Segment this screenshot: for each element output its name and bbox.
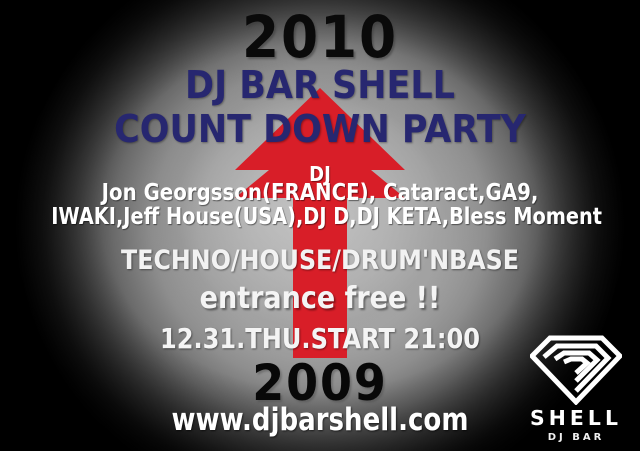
headline-event: COUNT DOWN PARTY [26,110,615,148]
date-time: 12.31.THU.START 21:00 [45,325,595,353]
lineup-line-1: Jon Georgsson(FRANCE), Cataract,GA9, [45,182,595,205]
shell-spiral-diamond-icon [530,333,622,405]
headline-year-top: 2010 [26,8,615,66]
logo-wordmark: SHELL [523,406,629,430]
logo-subtitle: DJ BAR [524,432,628,443]
music-genres: TECHNO/HOUSE/DRUM'NBASE [38,247,601,274]
shell-logo[interactable]: SHELL DJ BAR [524,333,628,443]
lineup-line-2: IWAKI,Jeff House(USA),DJ D,DJ KETA,Bless… [51,206,589,229]
entrance-notice: entrance free !! [32,284,608,314]
flyer-poster: 2010 DJ BAR SHELL COUNT DOWN PARTY DJ Jo… [0,0,640,451]
website-url[interactable]: www.djbarshell.com [51,405,589,436]
headline-venue: DJ BAR SHELL [26,66,615,104]
